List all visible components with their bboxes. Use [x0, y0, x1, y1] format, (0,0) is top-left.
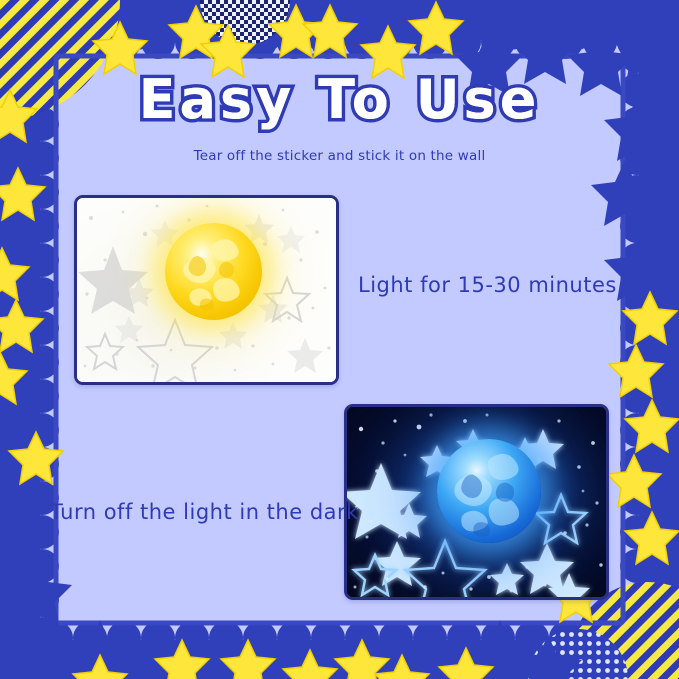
caption-dark-step: Turn off the light in the dark [50, 500, 359, 524]
caption-light-step: Light for 15-30 minutes [358, 273, 617, 297]
daylight-scene [77, 198, 336, 382]
page-subtitle: Tear off the sticker and stick it on the… [0, 148, 679, 164]
page-title: Easy To Use [0, 72, 679, 129]
moon-sticker-daylight-icon [165, 223, 262, 320]
infographic-canvas: Easy To Use Easy To Use Tear off the sti… [0, 0, 679, 679]
moon-sticker-dark-icon [437, 439, 541, 543]
darkness-scene [347, 407, 606, 597]
daylight-preview-panel[interactable] [74, 195, 339, 385]
darkness-preview-panel[interactable] [344, 404, 609, 600]
